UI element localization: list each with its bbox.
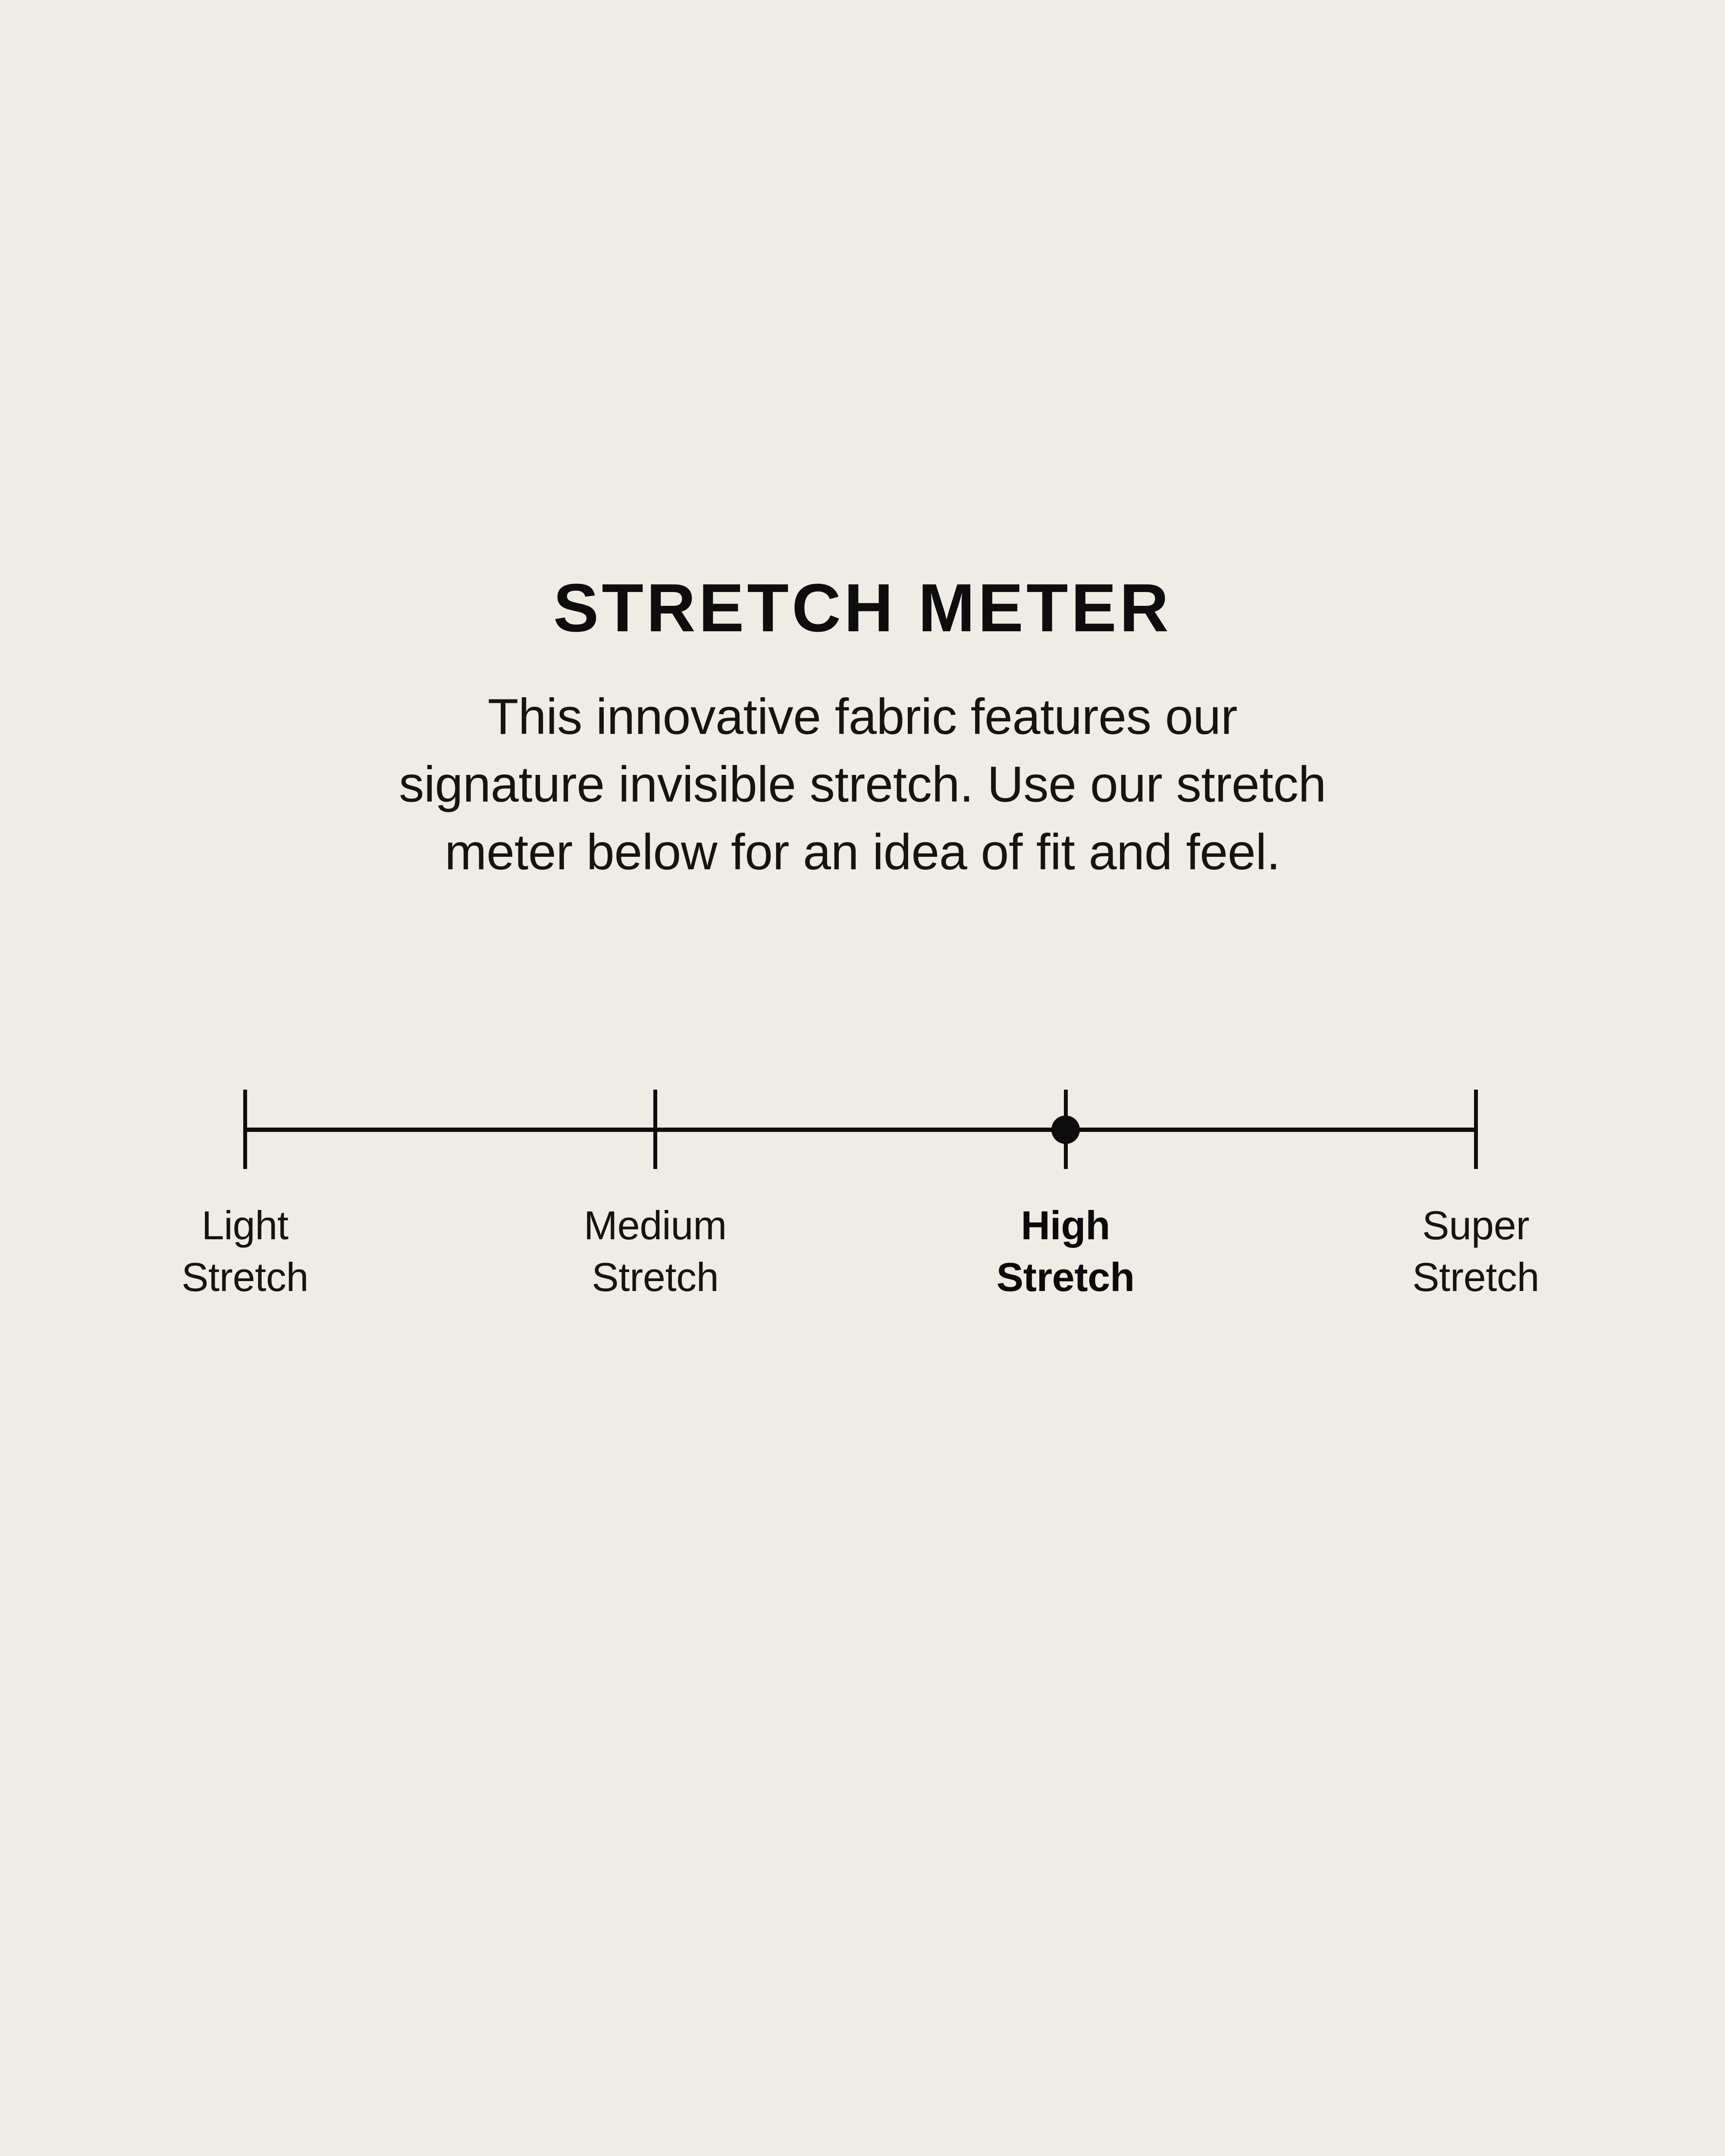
meter-selected-marker[interactable] <box>1051 1116 1080 1144</box>
meter-label-super-line2: Stretch <box>1325 1251 1627 1303</box>
meter-tick-medium[interactable] <box>653 1090 657 1169</box>
meter-label-high-line2: Stretch <box>915 1251 1217 1303</box>
description-line-3: meter below for an idea of fit and feel. <box>0 818 1725 886</box>
meter-axis-line <box>245 1128 1476 1132</box>
meter-label-high-line1: High <box>915 1200 1217 1251</box>
stretch-meter-panel: STRETCH METER This innovative fabric fea… <box>0 0 1725 2156</box>
meter-label-light-line1: Light <box>94 1200 396 1251</box>
meter-labels: Light Stretch Medium Stretch High Stretc… <box>245 1200 1476 1312</box>
meter-label-super[interactable]: Super Stretch <box>1325 1200 1627 1303</box>
meter-tick-light[interactable] <box>243 1090 247 1169</box>
meter-label-medium[interactable]: Medium Stretch <box>504 1200 806 1303</box>
meter-tick-super[interactable] <box>1474 1090 1478 1169</box>
meter-label-medium-line1: Medium <box>504 1200 806 1251</box>
meter-label-super-line1: Super <box>1325 1200 1627 1251</box>
panel-description: This innovative fabric features our sign… <box>0 643 1725 886</box>
meter-label-high[interactable]: High Stretch <box>915 1200 1217 1303</box>
meter-label-light[interactable]: Light Stretch <box>94 1200 396 1303</box>
meter-label-medium-line2: Stretch <box>504 1251 806 1303</box>
description-line-2: signature invisible stretch. Use our str… <box>0 750 1725 818</box>
heading-block: STRETCH METER This innovative fabric fea… <box>0 573 1725 886</box>
page-title: STRETCH METER <box>0 573 1725 643</box>
meter-label-light-line2: Stretch <box>94 1251 396 1303</box>
description-line-1: This innovative fabric features our <box>0 683 1725 750</box>
stretch-meter-scale[interactable] <box>245 1090 1476 1169</box>
